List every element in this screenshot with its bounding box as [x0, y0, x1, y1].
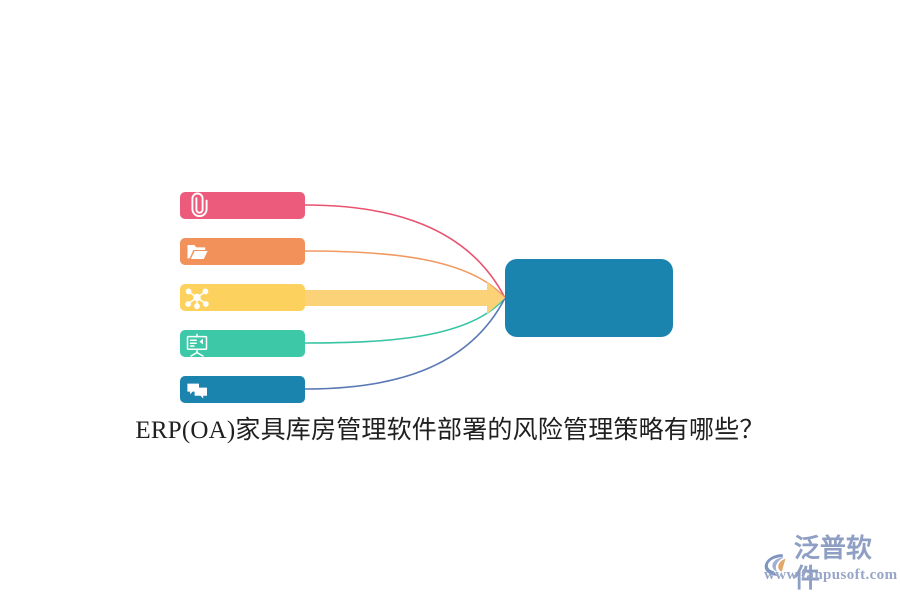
watermark-brand-text: 泛普软件 [794, 534, 894, 594]
bar-item-3[interactable] [180, 284, 305, 311]
bar-item-1[interactable] [180, 192, 305, 219]
watermark-brand-row: 泛普软件 [762, 534, 894, 594]
watermark-url-text: www.fanpusoft.com [764, 567, 897, 584]
page-title: ERP(OA)家具库房管理软件部署的风险管理策略有哪些？ [0, 414, 900, 448]
watermark: 泛普软件 www.fanpusoft.com [762, 534, 894, 590]
bar-item-2[interactable] [180, 238, 305, 265]
target-box[interactable] [505, 259, 673, 337]
diagram [0, 0, 900, 600]
infographic-canvas: ERP(OA)家具库房管理软件部署的风险管理策略有哪些？ 泛普软件 www.fa… [0, 0, 900, 600]
connector-line-5 [305, 298, 505, 389]
bar-item-4[interactable] [180, 330, 305, 357]
bar-item-5[interactable] [180, 376, 305, 403]
connector-arrow-3 [295, 282, 505, 314]
bar-background-1 [180, 192, 305, 219]
